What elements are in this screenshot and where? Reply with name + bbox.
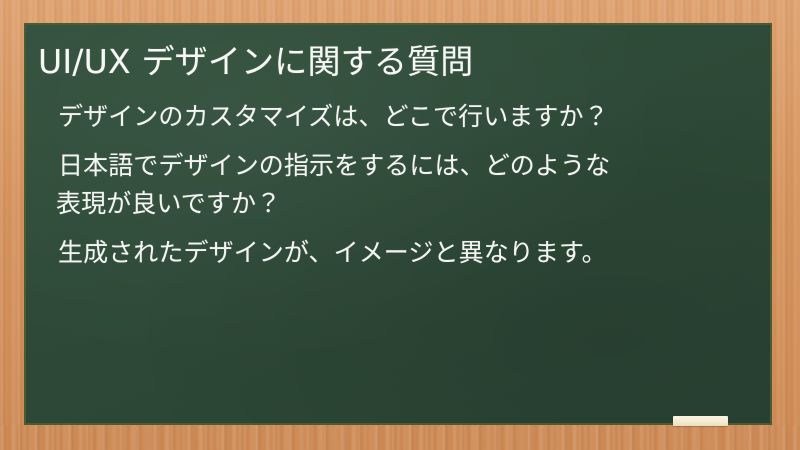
chalkboard-slide: UI/UX デザインに関する質問 デザインのカスタマイズは、どこで行いますか？ … <box>0 0 800 450</box>
question-text-line-2: 表現が良いですか？ <box>56 185 748 223</box>
wood-grain-texture <box>0 425 800 450</box>
chalkboard-content: UI/UX デザインに関する質問 デザインのカスタマイズは、どこで行いますか？ … <box>26 25 770 423</box>
question-text-line-1: 生成されたデザインが、イメージと異なります。 <box>58 238 607 267</box>
list-item: 日本語でデザインの指示をするには、どのような 表現が良いですか？ <box>58 147 748 223</box>
slide-title: UI/UX デザインに関する質問 <box>38 40 752 84</box>
list-item: デザインのカスタマイズは、どこで行いますか？ <box>58 98 748 136</box>
list-item: 生成されたデザインが、イメージと異なります。 <box>58 234 748 272</box>
chalk-eraser-icon <box>673 416 728 426</box>
chalkboard-surface: UI/UX デザインに関する質問 デザインのカスタマイズは、どこで行いますか？ … <box>24 23 772 425</box>
question-text-line-1: 日本語でデザインの指示をするには、どのような <box>58 151 610 180</box>
question-list: デザインのカスタマイズは、どこで行いますか？ 日本語でデザインの指示をするには、… <box>36 98 752 272</box>
question-text-line-1: デザインのカスタマイズは、どこで行いますか？ <box>58 102 609 131</box>
